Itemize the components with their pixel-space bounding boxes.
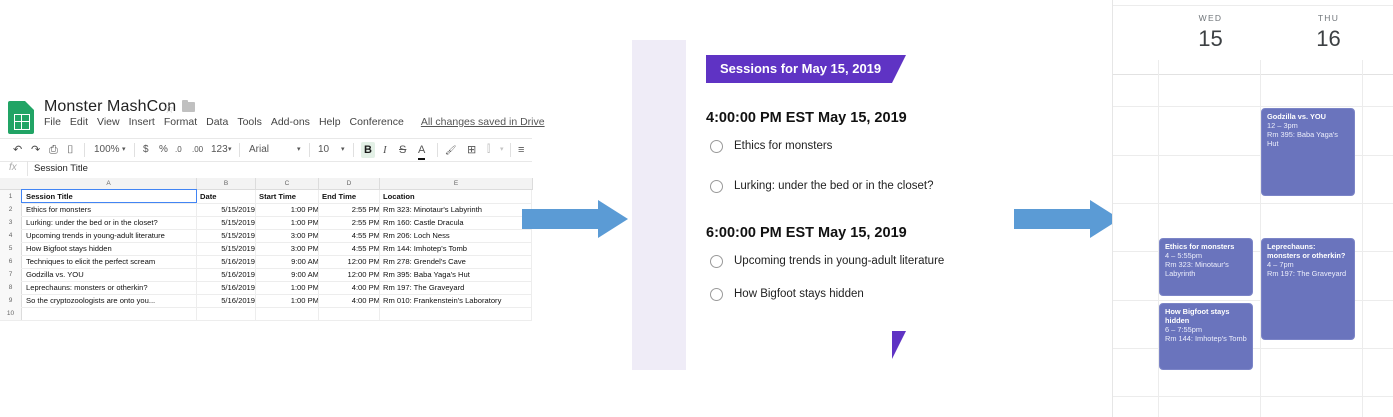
increase-decimal-button[interactable]: .00 <box>192 142 203 158</box>
cell-date[interactable]: 5/15/2019 <box>200 216 255 229</box>
menu-item-tools[interactable]: Tools <box>237 116 262 128</box>
merge-caret-icon: ▾ <box>500 142 504 158</box>
folder-icon[interactable] <box>182 102 195 112</box>
row-header[interactable]: 8 <box>0 281 22 295</box>
row-header[interactable]: 6 <box>0 255 22 269</box>
google-sheets-panel: Monster MashCon ☆ FileEditViewInsertForm… <box>0 96 532 316</box>
cell-location[interactable]: Rm 160: Castle Dracula <box>383 216 531 229</box>
cell-start[interactable]: 3:00 PM <box>259 242 319 255</box>
radio-icon[interactable] <box>710 140 723 153</box>
cell-location[interactable]: Rm 197: The Graveyard <box>383 281 531 294</box>
cell-e1[interactable]: Location <box>383 190 531 203</box>
google-calendar-panel: WED 15 THU 16 Godzilla vs. YOU 12 – 3pm … <box>1112 0 1393 417</box>
cell-title[interactable]: Upcoming trends in young-adult literatur… <box>26 229 196 242</box>
font-size-select[interactable]: 10 <box>318 142 329 158</box>
menu-item-data[interactable]: Data <box>206 116 228 128</box>
decrease-decimal-button[interactable]: .0 <box>175 142 182 158</box>
table-row[interactable]: Leprechauns: monsters or otherkin? 5/16/… <box>21 281 532 295</box>
form-content <box>686 40 902 370</box>
table-row[interactable]: How Bigfoot stays hidden 5/15/2019 3:00 … <box>21 242 532 256</box>
cell-end[interactable]: 4:00 PM <box>322 281 380 294</box>
grid-corner[interactable] <box>0 178 22 190</box>
cell-start[interactable]: 1:00 PM <box>259 203 319 216</box>
save-status-link[interactable]: All changes saved in Drive <box>421 116 545 128</box>
cell-end[interactable]: 4:55 PM <box>322 229 380 242</box>
fill-color-icon[interactable]: 🖌 <box>445 142 456 158</box>
right-arrow-2 <box>1014 200 1120 238</box>
cell-start[interactable]: 9:00 AM <box>259 268 319 281</box>
cell-end[interactable]: 4:00 PM <box>322 294 380 307</box>
section-banner-may15: Sessions for May 15, 2019 <box>706 55 892 83</box>
table-row[interactable]: Lurking: under the bed or in the closet?… <box>21 216 532 230</box>
document-title[interactable]: Monster MashCon <box>44 98 176 116</box>
star-icon[interactable]: ☆ <box>164 102 175 116</box>
day-number-16[interactable]: 16 <box>1271 26 1386 52</box>
menu-item-addons[interactable]: Add-ons <box>271 116 310 128</box>
menu-item-edit[interactable]: Edit <box>70 116 88 128</box>
row-header[interactable]: 1 <box>0 190 22 204</box>
table-row[interactable]: Godzilla vs. YOU 5/16/2019 9:00 AM 12:00… <box>21 268 532 282</box>
table-row[interactable]: Techniques to elicit the perfect scream … <box>21 255 532 269</box>
calendar-event-bigfoot[interactable]: How Bigfoot stays hidden 6 – 7:55pm Rm 1… <box>1159 303 1253 370</box>
sheets-toolbar: ↶ ↷ ⎙ ⌷ 100% ▾ $ % .0 .00 123 ▾ Arial ▾ … <box>0 138 532 162</box>
undo-icon[interactable]: ↶ <box>13 143 22 157</box>
paint-format-icon[interactable]: ⌷ <box>67 143 74 157</box>
cell-start[interactable]: 1:00 PM <box>259 281 319 294</box>
row-header[interactable]: 5 <box>0 242 22 256</box>
zoom-level[interactable]: 100% <box>94 142 120 158</box>
cell-end[interactable]: 12:00 PM <box>322 268 380 281</box>
print-icon[interactable]: ⎙ <box>49 143 58 157</box>
sheets-logo-icon <box>8 101 34 134</box>
table-row[interactable]: Ethics for monsters 5/15/2019 1:00 PM 2:… <box>21 203 532 217</box>
column-header-d[interactable]: D <box>319 178 380 190</box>
menu-item-view[interactable]: View <box>97 116 120 128</box>
right-arrow-1 <box>522 200 628 238</box>
row-header[interactable]: 3 <box>0 216 22 230</box>
merge-cells-icon: ⫿ <box>487 142 490 158</box>
bold-button[interactable]: B <box>361 142 375 158</box>
cell-title[interactable]: Lurking: under the bed or in the closet? <box>26 216 196 229</box>
cell-date[interactable]: 5/16/2019 <box>200 268 255 281</box>
selected-cell-outline[interactable] <box>21 189 197 203</box>
row-header[interactable]: 9 <box>0 294 22 308</box>
form-left-margin <box>632 40 686 370</box>
percent-format-button[interactable]: % <box>159 142 168 158</box>
calendar-event-godzilla[interactable]: Godzilla vs. YOU 12 – 3pm Rm 395: Baba Y… <box>1261 108 1355 196</box>
cell-title[interactable]: Leprechauns: monsters or otherkin? <box>26 281 196 294</box>
cell-start[interactable]: 1:00 PM <box>259 294 319 307</box>
table-row[interactable] <box>21 307 532 321</box>
calendar-event-leprechauns[interactable]: Leprechauns: monsters or otherkin? 4 – 7… <box>1261 238 1355 340</box>
row-header[interactable]: 2 <box>0 203 22 217</box>
cell-location[interactable]: Rm 206: Loch Ness <box>383 229 531 242</box>
cell-location[interactable]: Rm 323: Minotaur's Labyrinth <box>383 203 531 216</box>
cell-date[interactable]: 5/15/2019 <box>200 203 255 216</box>
table-row[interactable]: So the cryptozoologists are onto you... … <box>21 294 532 308</box>
day-of-week-wed: WED <box>1153 13 1268 23</box>
menu-item-help[interactable]: Help <box>319 116 341 128</box>
menu-item-conference[interactable]: Conference <box>350 116 404 128</box>
redo-icon[interactable]: ↷ <box>31 143 40 157</box>
cell-location[interactable]: Rm 278: Grendel's Cave <box>383 255 531 268</box>
cell-title[interactable]: Ethics for monsters <box>26 203 196 216</box>
font-size-caret-icon[interactable]: ▾ <box>341 142 345 158</box>
cell-end[interactable]: 12:00 PM <box>322 255 380 268</box>
google-form-panel: Sessions for May 15, 2019 4:00:00 PM EST… <box>632 40 902 370</box>
align-icon[interactable]: ≡ <box>518 142 524 158</box>
radio-icon[interactable] <box>710 180 723 193</box>
radio-icon[interactable] <box>710 288 723 301</box>
cell-date[interactable]: 5/15/2019 <box>200 229 255 242</box>
formula-bar: fx Session Title <box>0 160 532 179</box>
italic-button[interactable]: I <box>383 142 387 158</box>
sheets-titlebar: Monster MashCon ☆ FileEditViewInsertForm… <box>0 96 532 140</box>
cell-start[interactable]: 9:00 AM <box>259 255 319 268</box>
font-caret-icon[interactable]: ▾ <box>297 142 301 158</box>
calendar-event-ethics[interactable]: Ethics for monsters 4 – 5:55pm Rm 323: M… <box>1159 238 1253 296</box>
zoom-caret-icon[interactable]: ▾ <box>122 142 126 158</box>
cell-date[interactable]: 5/15/2019 <box>200 242 255 255</box>
strikethrough-button[interactable]: S <box>399 142 406 158</box>
column-header-e[interactable]: E <box>380 178 533 190</box>
currency-format-button[interactable]: $ <box>143 142 149 158</box>
cell-d1[interactable]: End Time <box>322 190 380 203</box>
cell-c1[interactable]: Start Time <box>259 190 319 203</box>
time-group-heading-2: 6:00:00 PM EST May 15, 2019 <box>706 225 907 241</box>
cell-start[interactable]: 1:00 PM <box>259 216 319 229</box>
row-header[interactable]: 10 <box>0 307 22 321</box>
cell-date[interactable]: 5/16/2019 <box>200 294 255 307</box>
menu-bar: FileEditViewInsertFormatDataToolsAdd-ons… <box>44 116 554 128</box>
cell-title[interactable]: Techniques to elicit the perfect scream <box>26 255 196 268</box>
day-number-15[interactable]: 15 <box>1153 26 1268 52</box>
cell-end[interactable]: 4:55 PM <box>322 242 380 255</box>
cell-location[interactable]: Rm 144: Imhotep's Tomb <box>383 242 531 255</box>
menu-item-file[interactable]: File <box>44 116 61 128</box>
borders-icon[interactable]: ⊞ <box>467 142 476 158</box>
row-header[interactable]: 7 <box>0 268 22 282</box>
spreadsheet-grid[interactable]: A B C D E 1 2 3 4 5 6 7 8 9 10 Session T… <box>0 178 532 312</box>
formula-input[interactable]: Session Title <box>34 163 88 174</box>
number-format-button[interactable]: 123 <box>211 142 228 158</box>
day-of-week-thu: THU <box>1271 13 1386 23</box>
cell-title[interactable]: Godzilla vs. YOU <box>26 268 196 281</box>
menu-item-format[interactable]: Format <box>164 116 197 128</box>
table-row[interactable]: Upcoming trends in young-adult literatur… <box>21 229 532 243</box>
cell-title[interactable]: How Bigfoot stays hidden <box>26 242 196 255</box>
cell-end[interactable]: 2:55 PM <box>322 203 380 216</box>
column-header-b[interactable]: B <box>197 178 256 190</box>
number-format-caret-icon[interactable]: ▾ <box>228 142 232 158</box>
cell-b1[interactable]: Date <box>200 190 255 203</box>
cell-end[interactable]: 2:55 PM <box>322 216 380 229</box>
row-header[interactable]: 4 <box>0 229 22 243</box>
column-header-c[interactable]: C <box>256 178 319 190</box>
radio-icon[interactable] <box>710 255 723 268</box>
cell-location[interactable]: Rm 010: Frankenstein's Laboratory <box>383 294 531 307</box>
menu-item-insert[interactable]: Insert <box>129 116 155 128</box>
cell-title[interactable]: So the cryptozoologists are onto you... <box>26 294 196 307</box>
fx-icon: fx <box>9 162 17 173</box>
cell-start[interactable]: 3:00 PM <box>259 229 319 242</box>
cell-location[interactable]: Rm 395: Baba Yaga's Hut <box>383 268 531 281</box>
font-family-select[interactable]: Arial <box>249 142 269 158</box>
time-group-heading-1: 4:00:00 PM EST May 15, 2019 <box>706 110 907 126</box>
text-color-button[interactable]: A <box>418 142 425 160</box>
cell-date[interactable]: 5/16/2019 <box>200 255 255 268</box>
cell-date[interactable]: 5/16/2019 <box>200 281 255 294</box>
